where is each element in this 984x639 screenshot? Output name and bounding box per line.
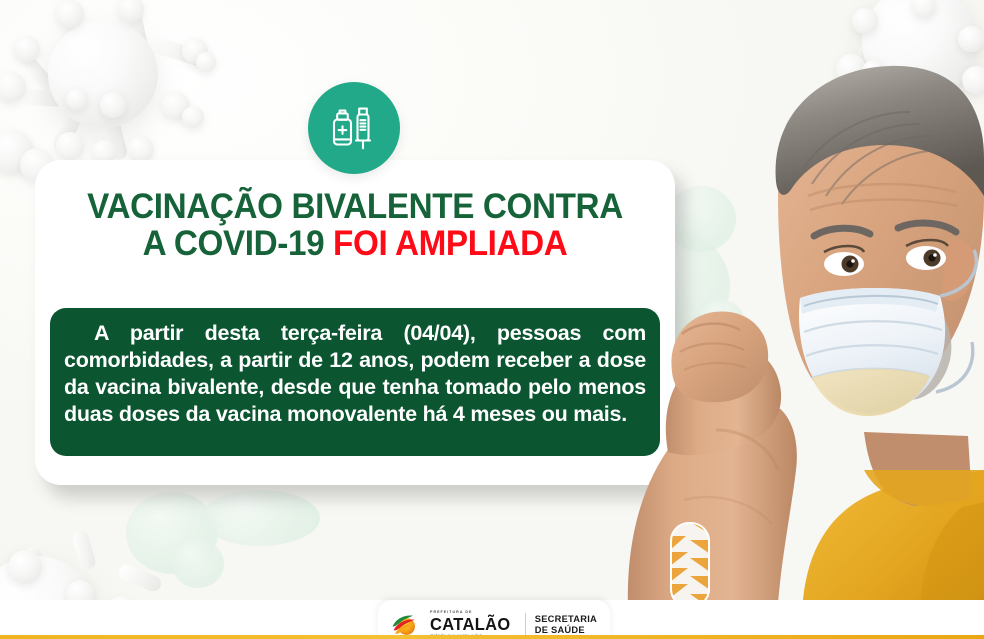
catalao-city-logo-icon bbox=[391, 613, 421, 637]
vaccine-vial-and-syringe-icon bbox=[326, 100, 382, 156]
message-text: A partir desta terça-feira (04/04), pess… bbox=[64, 320, 646, 428]
headline-line-2-green: A COVID-19 bbox=[143, 224, 325, 263]
brand-department-line-2: DE SAÚDE bbox=[535, 625, 585, 635]
brand-divider bbox=[525, 613, 526, 638]
headline-line-2-red: FOI AMPLIADA bbox=[333, 224, 567, 263]
vaccine-badge bbox=[308, 82, 400, 174]
brand-department-line-1: SECRETARIA bbox=[535, 614, 597, 624]
brand-city-name: CATALÃO bbox=[430, 616, 511, 633]
brand-department: SECRETARIA DE SAÚDE bbox=[535, 614, 597, 637]
poster-canvas: VACINAÇÃO BIVALENTE CONTRA A COVID-19 FO… bbox=[0, 0, 984, 639]
person-photo bbox=[564, 0, 984, 639]
footer-logo-bar: PREFEITURA DE CATALÃO Cidade que sente e… bbox=[378, 600, 610, 639]
bottom-gold-line bbox=[0, 635, 984, 639]
footer-wing-right bbox=[596, 600, 984, 639]
footer-wing-left bbox=[0, 600, 392, 639]
